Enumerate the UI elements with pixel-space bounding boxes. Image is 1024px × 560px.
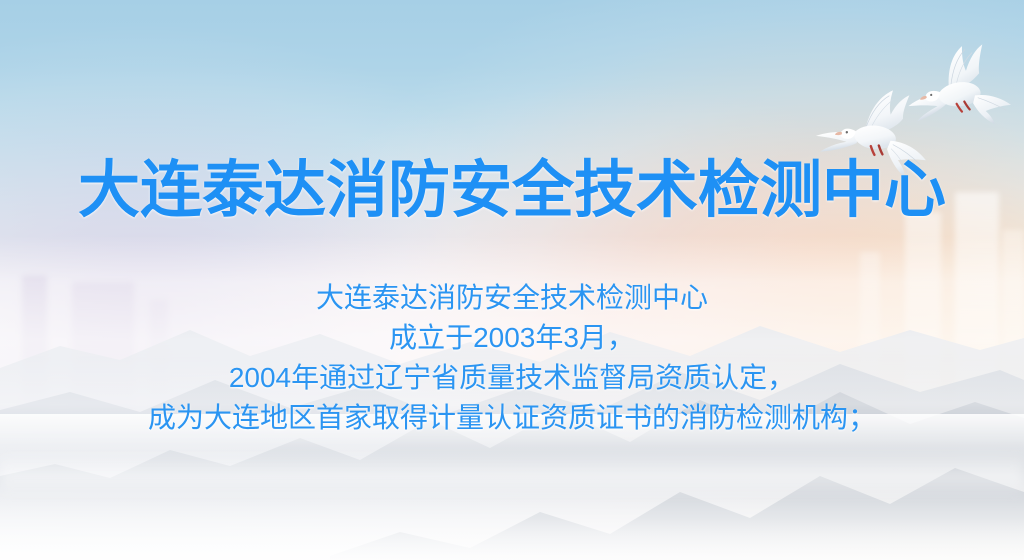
banner-text-content: 大连泰达消防安全技术检测中心 大连泰达消防安全技术检测中心 成立于2003年3月… [0, 0, 1024, 560]
description-line: 成为大连地区首家取得计量认证资质证书的消防检测机构； [0, 398, 1024, 438]
banner-description: 大连泰达消防安全技术检测中心 成立于2003年3月， 2004年通过辽宁省质量技… [0, 278, 1024, 438]
description-line: 成立于2003年3月， [0, 318, 1024, 358]
description-line: 大连泰达消防安全技术检测中心 [0, 278, 1024, 318]
page-title: 大连泰达消防安全技术检测中心 [0, 160, 1024, 222]
description-line: 2004年通过辽宁省质量技术监督局资质认定， [0, 358, 1024, 398]
promotional-banner: 大连泰达消防安全技术检测中心 大连泰达消防安全技术检测中心 成立于2003年3月… [0, 0, 1024, 560]
